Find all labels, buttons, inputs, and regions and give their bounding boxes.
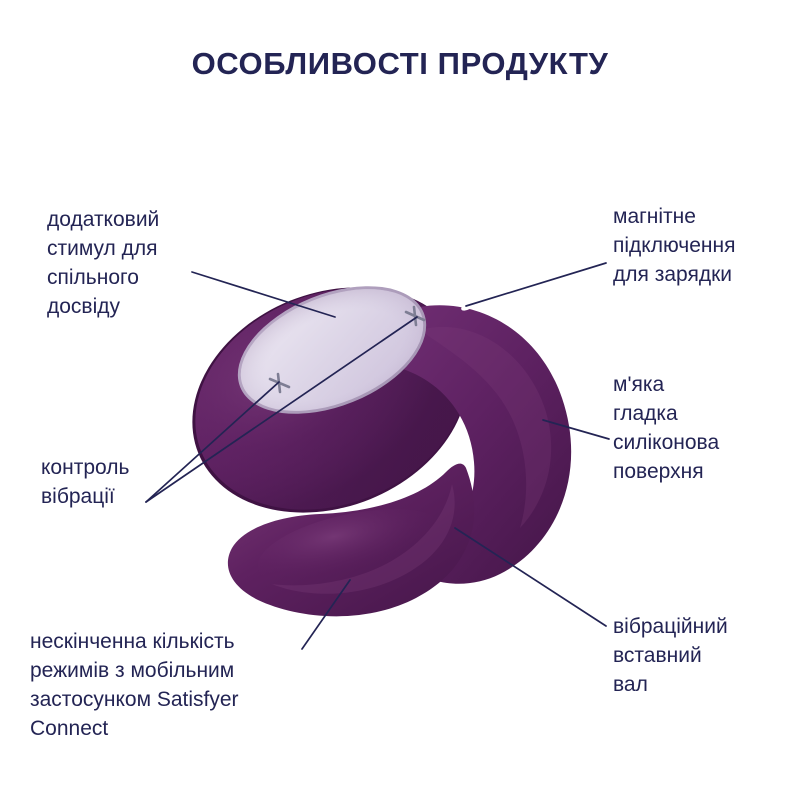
- callout-magnetic-charging: магнітне підключення для зарядки: [613, 203, 800, 290]
- callout-app-modes: нескінченна кількість режимів з мобільни…: [30, 628, 320, 744]
- infographic-canvas: ОСОБЛИВОСТІ ПРОДУКТУ додатковий стимул д…: [0, 0, 800, 800]
- page-title: ОСОБЛИВОСТІ ПРОДУКТУ: [0, 47, 800, 81]
- callout-insertable-shaft: вібраційний вставний вал: [613, 613, 793, 700]
- callout-vibration-control: контроль вібрації: [41, 454, 261, 512]
- leader-silicone-surface: [543, 420, 609, 439]
- callout-silicone-surface: м'яка гладка силіконова поверхня: [613, 371, 798, 487]
- callout-shared-experience: додатковий стимул для спільного досвіду: [47, 206, 297, 322]
- leader-insertable-shaft: [455, 528, 606, 626]
- leader-magnetic-charging: [466, 263, 606, 306]
